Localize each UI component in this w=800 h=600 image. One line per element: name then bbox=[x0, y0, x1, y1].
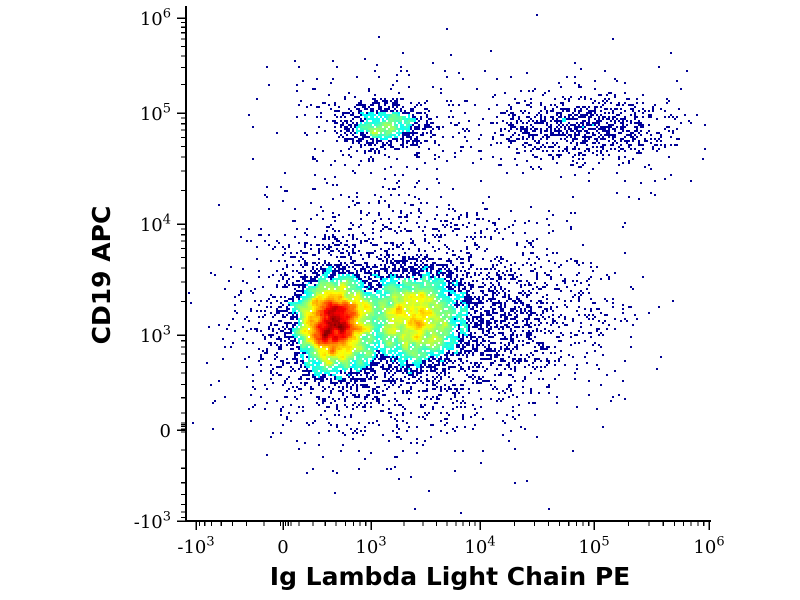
scatter-point-group bbox=[328, 332, 330, 334]
scatter-points bbox=[350, 334, 352, 336]
scatter-points bbox=[328, 332, 330, 334]
scatter-points bbox=[420, 322, 422, 324]
scatter-points bbox=[336, 328, 338, 330]
scatter-point-group bbox=[320, 336, 322, 338]
scatter-points bbox=[328, 300, 330, 302]
scatter-point-group bbox=[334, 328, 336, 330]
scatter-points bbox=[328, 330, 330, 332]
scatter-point-group bbox=[318, 334, 320, 336]
scatter-point-group bbox=[330, 332, 332, 334]
scatter-point-group bbox=[344, 320, 346, 322]
scatter-points bbox=[352, 324, 354, 326]
scatter-points bbox=[334, 320, 336, 322]
scatter-points bbox=[332, 318, 334, 320]
scatter-points bbox=[318, 334, 320, 336]
scatter-point-group bbox=[322, 314, 324, 316]
scatter-points bbox=[336, 338, 338, 340]
scatter-points bbox=[320, 336, 322, 338]
scatter-point-group bbox=[338, 324, 340, 326]
scatter-points bbox=[334, 328, 336, 330]
scatter-points bbox=[326, 314, 328, 316]
scatter-point-group bbox=[332, 326, 334, 328]
scatter-point-group bbox=[334, 332, 336, 334]
scatter-point-group bbox=[340, 344, 342, 346]
scatter-points bbox=[334, 332, 336, 334]
scatter-point-group bbox=[330, 316, 332, 318]
scatter-point-group bbox=[330, 346, 332, 348]
scatter-point-group bbox=[332, 318, 334, 320]
scatter-points bbox=[328, 342, 330, 344]
scatter-point-group bbox=[336, 326, 338, 328]
scatter-points bbox=[334, 326, 336, 328]
scatter-points bbox=[348, 310, 350, 312]
scatter-points bbox=[328, 304, 330, 306]
scatter-points bbox=[310, 320, 312, 322]
scatter-point-group bbox=[348, 318, 350, 320]
scatter-point-group bbox=[322, 334, 324, 336]
scatter-points bbox=[320, 328, 322, 330]
scatter-point-group bbox=[340, 328, 342, 330]
scatter-points bbox=[330, 340, 332, 342]
scatter-points bbox=[416, 322, 418, 324]
scatter-point-group bbox=[332, 312, 334, 314]
scatter-points bbox=[420, 312, 422, 314]
scatter-point-group bbox=[336, 332, 338, 334]
scatter-point-group bbox=[326, 324, 328, 326]
scatter-point-group bbox=[336, 328, 338, 330]
scatter-point-group bbox=[328, 304, 330, 306]
scatter-points bbox=[350, 306, 352, 308]
scatter-point-group bbox=[324, 332, 326, 334]
scatter-point-group bbox=[334, 326, 336, 328]
scatter-point-group bbox=[334, 324, 336, 326]
scatter-points bbox=[316, 300, 318, 302]
scatter-point-group bbox=[420, 312, 422, 314]
scatter-points bbox=[332, 326, 334, 328]
scatter-points bbox=[340, 328, 342, 330]
scatter-points bbox=[324, 330, 326, 332]
scatter-point-group bbox=[342, 338, 344, 340]
scatter-points bbox=[338, 304, 340, 306]
x-axis-title: Ig Lambda Light Chain PE bbox=[270, 562, 630, 591]
scatter-point-group bbox=[328, 312, 330, 314]
scatter-points bbox=[326, 330, 328, 332]
scatter-points bbox=[324, 332, 326, 334]
scatter-point-group bbox=[352, 306, 354, 308]
scatter-point-group bbox=[328, 342, 330, 344]
scatter-point-group bbox=[310, 336, 312, 338]
scatter-point-group bbox=[334, 320, 336, 322]
scatter-points bbox=[330, 324, 332, 326]
scatter-points bbox=[346, 322, 348, 324]
scatter-points bbox=[346, 324, 348, 326]
scatter-points bbox=[348, 306, 350, 308]
scatter-points bbox=[310, 336, 312, 338]
scatter-points bbox=[332, 312, 334, 314]
scatter-points bbox=[344, 320, 346, 322]
scatter-point-group bbox=[352, 324, 354, 326]
scatter-points bbox=[340, 340, 342, 342]
scatter-points bbox=[330, 350, 332, 352]
scatter-points bbox=[340, 344, 342, 346]
scatter-points bbox=[332, 304, 334, 306]
scatter-points bbox=[356, 306, 358, 308]
scatter-points bbox=[342, 338, 344, 340]
scatter-point-group bbox=[348, 306, 350, 308]
scatter-points bbox=[338, 340, 340, 342]
scatter-points bbox=[328, 322, 330, 324]
scatter-point-group bbox=[332, 302, 334, 304]
scatter-point-group bbox=[356, 306, 358, 308]
scatter-points bbox=[322, 318, 324, 320]
scatter-point-group bbox=[330, 338, 332, 340]
scatter-point-group bbox=[332, 320, 334, 322]
scatter-points bbox=[326, 324, 328, 326]
scatter-point-group bbox=[340, 326, 342, 328]
scatter-point-group bbox=[348, 310, 350, 312]
scatter-point-group bbox=[336, 338, 338, 340]
scatter-points bbox=[332, 302, 334, 304]
scatter-point-group bbox=[330, 324, 332, 326]
scatter-points bbox=[332, 322, 334, 324]
scatter-points bbox=[348, 308, 350, 310]
scatter-point-group bbox=[326, 330, 328, 332]
scatter-point-group bbox=[332, 322, 334, 324]
scatter-point-group bbox=[326, 316, 328, 318]
scatter-points bbox=[340, 326, 342, 328]
scatter-point-group bbox=[334, 314, 336, 316]
scatter-point-group bbox=[326, 314, 328, 316]
scatter-point-group bbox=[346, 324, 348, 326]
scatter-point-group bbox=[328, 300, 330, 302]
scatter-points bbox=[330, 332, 332, 334]
scatter-points bbox=[342, 306, 344, 308]
scatter-points bbox=[330, 352, 332, 354]
tick-label: 0 bbox=[160, 421, 171, 442]
scatter-points bbox=[322, 336, 324, 338]
scatter-points bbox=[344, 332, 346, 334]
flow-cytometry-scatter-plot: 1061051041030-103-1030103104105106 Ig La… bbox=[0, 0, 800, 600]
scatter-points bbox=[334, 318, 336, 320]
scatter-point-group bbox=[322, 336, 324, 338]
scatter-points bbox=[326, 320, 330, 322]
scatter-point-group bbox=[346, 326, 348, 328]
scatter-points bbox=[330, 338, 332, 340]
scatter-points bbox=[352, 308, 354, 310]
scatter-point-group bbox=[342, 306, 344, 308]
scatter-point-group bbox=[322, 322, 324, 324]
scatter-point-group bbox=[340, 334, 342, 336]
scatter-points bbox=[334, 324, 336, 326]
scatter-points bbox=[340, 334, 342, 336]
y-axis-title: CD19 APC bbox=[87, 206, 116, 345]
scatter-points bbox=[336, 326, 338, 328]
scatter-point-group bbox=[332, 304, 334, 306]
scatter-point-group bbox=[322, 318, 324, 320]
scatter-point-group bbox=[328, 330, 330, 332]
scatter-points bbox=[346, 326, 348, 328]
scatter-point-group bbox=[416, 322, 418, 324]
scatter-points bbox=[330, 316, 332, 318]
scatter-point-group bbox=[340, 340, 342, 342]
scatter-points bbox=[326, 316, 328, 318]
scatter-points bbox=[328, 312, 330, 314]
scatter-point-group bbox=[324, 330, 326, 332]
scatter-points bbox=[352, 306, 354, 308]
scatter-point-group bbox=[344, 332, 346, 334]
scatter-point-group bbox=[350, 306, 352, 308]
scatter-point-group bbox=[330, 352, 332, 354]
tick-label: 0 bbox=[277, 537, 288, 558]
scatter-point-group bbox=[352, 308, 354, 310]
scatter-points bbox=[322, 314, 324, 316]
scatter-point-group bbox=[338, 304, 340, 306]
scatter-point-group bbox=[348, 308, 350, 310]
scatter-point-group bbox=[324, 344, 330, 346]
scatter-points bbox=[332, 320, 334, 322]
scatter-point-group bbox=[328, 322, 330, 324]
scatter-point-group bbox=[420, 322, 422, 324]
scatter-point-group bbox=[330, 340, 332, 342]
scatter-point-group bbox=[338, 340, 340, 342]
scatter-point-group bbox=[346, 322, 348, 324]
scatter-points bbox=[324, 344, 330, 346]
scatter-points bbox=[322, 322, 324, 324]
scatter-point-group bbox=[350, 334, 352, 336]
scatter-point-group bbox=[320, 328, 322, 330]
scatter-points bbox=[348, 318, 350, 320]
scatter-point-group bbox=[330, 350, 332, 352]
scatter-point-group bbox=[326, 320, 330, 322]
scatter-points bbox=[322, 320, 324, 322]
scatter-point-group bbox=[326, 334, 328, 336]
scatter-points bbox=[330, 346, 332, 348]
scatter-points bbox=[326, 334, 328, 336]
scatter-points bbox=[322, 334, 324, 336]
scatter-points bbox=[336, 332, 338, 334]
scatter-point-group bbox=[334, 318, 336, 320]
scatter-point-group bbox=[310, 320, 312, 322]
scatter-points bbox=[338, 324, 340, 326]
scatter-point-group bbox=[316, 300, 318, 302]
scatter-point-group bbox=[322, 320, 324, 322]
scatter-points bbox=[334, 314, 336, 316]
